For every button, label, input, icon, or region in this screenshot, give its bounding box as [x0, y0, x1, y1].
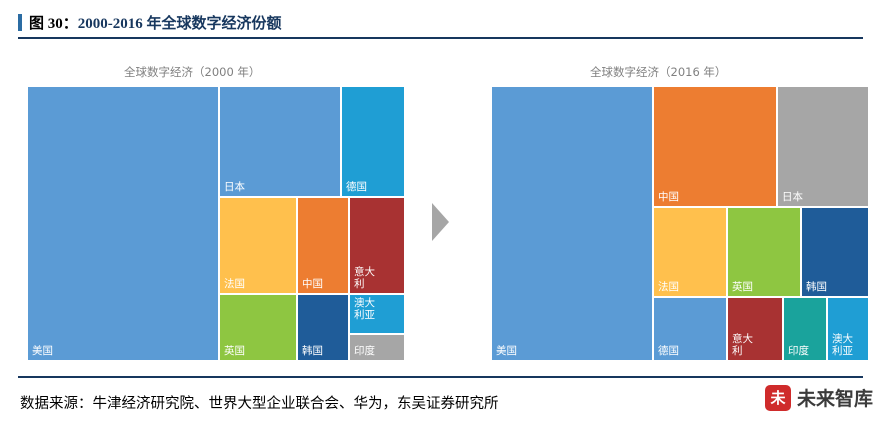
treemap-2016: 美国中国日本法国英国韩国德国意大 利印度澳大 利亚	[491, 86, 869, 361]
treemap-cell: 中国	[653, 86, 777, 207]
treemap-cell-label: 澳大 利亚	[354, 298, 375, 321]
treemap-cell: 印度	[783, 297, 827, 361]
treemap-cell-label: 日本	[224, 182, 245, 194]
treemap-cell: 法国	[653, 207, 727, 297]
treemap-2000: 美国日本德国法国中国意大 利英国韩国澳大 利亚印度	[27, 86, 405, 361]
treemap-cell: 韩国	[801, 207, 869, 297]
top-divider	[18, 37, 863, 39]
treemap-cell: 英国	[727, 207, 801, 297]
watermark: 未 未来智库	[765, 384, 873, 411]
treemap-cell: 法国	[219, 197, 297, 294]
treemap-cell-label: 英国	[224, 346, 245, 358]
treemap-cell-label: 澳大 利亚	[832, 334, 853, 357]
treemap-cell: 澳大 利亚	[827, 297, 869, 361]
watermark-icon: 未	[765, 385, 791, 411]
treemap-cell-label: 英国	[732, 282, 753, 294]
accent-bar	[18, 14, 22, 31]
treemap-title-2000: 全球数字经济（2000 年）	[124, 64, 260, 80]
treemap-cell: 英国	[219, 294, 297, 361]
treemap-cell: 澳大 利亚	[349, 294, 405, 334]
treemap-cell-label: 中国	[658, 192, 679, 204]
treemap-cell-label: 韩国	[806, 282, 827, 294]
figure-page: 图 30： 2000-2016 年全球数字经济份额 全球数字经济（2000 年）…	[0, 0, 881, 421]
treemap-cell: 韩国	[297, 294, 349, 361]
treemap-cell-label: 中国	[302, 279, 323, 291]
treemap-cell: 日本	[777, 86, 869, 207]
treemap-cell-label: 印度	[788, 346, 809, 358]
treemap-cell: 德国	[341, 86, 405, 197]
treemap-cell: 意大 利	[727, 297, 783, 361]
treemap-cell: 美国	[27, 86, 219, 361]
treemap-cell-label: 美国	[496, 346, 517, 358]
treemap-cell-label: 美国	[32, 346, 53, 358]
right-arrow-icon	[432, 203, 449, 241]
treemap-cell: 日本	[219, 86, 341, 197]
treemap-cell: 中国	[297, 197, 349, 294]
source-note: 数据来源：牛津经济研究院、世界大型企业联合会、华为，东吴证券研究所	[20, 392, 499, 413]
figure-header: 图 30： 2000-2016 年全球数字经济份额	[18, 8, 863, 36]
treemap-title-2016: 全球数字经济（2016 年）	[590, 64, 726, 80]
treemap-cell-label: 法国	[224, 279, 245, 291]
treemap-cell-label: 印度	[354, 346, 375, 358]
treemap-cell-label: 德国	[658, 346, 679, 358]
bottom-divider	[18, 376, 863, 378]
treemap-cell: 意大 利	[349, 197, 405, 294]
treemap-cell: 德国	[653, 297, 727, 361]
treemap-cell-label: 意大 利	[354, 267, 375, 290]
page-title: 2000-2016 年全球数字经济份额	[78, 12, 282, 33]
figure-label: 图 30：	[29, 12, 78, 33]
treemap-cell: 美国	[491, 86, 653, 361]
treemap-cell-label: 德国	[346, 182, 367, 194]
treemap-cell-label: 日本	[782, 192, 803, 204]
treemap-cell-label: 韩国	[302, 346, 323, 358]
treemap-cell: 印度	[349, 334, 405, 361]
watermark-text: 未来智库	[797, 384, 873, 411]
treemap-cell-label: 意大 利	[732, 334, 753, 357]
treemap-cell-label: 法国	[658, 282, 679, 294]
